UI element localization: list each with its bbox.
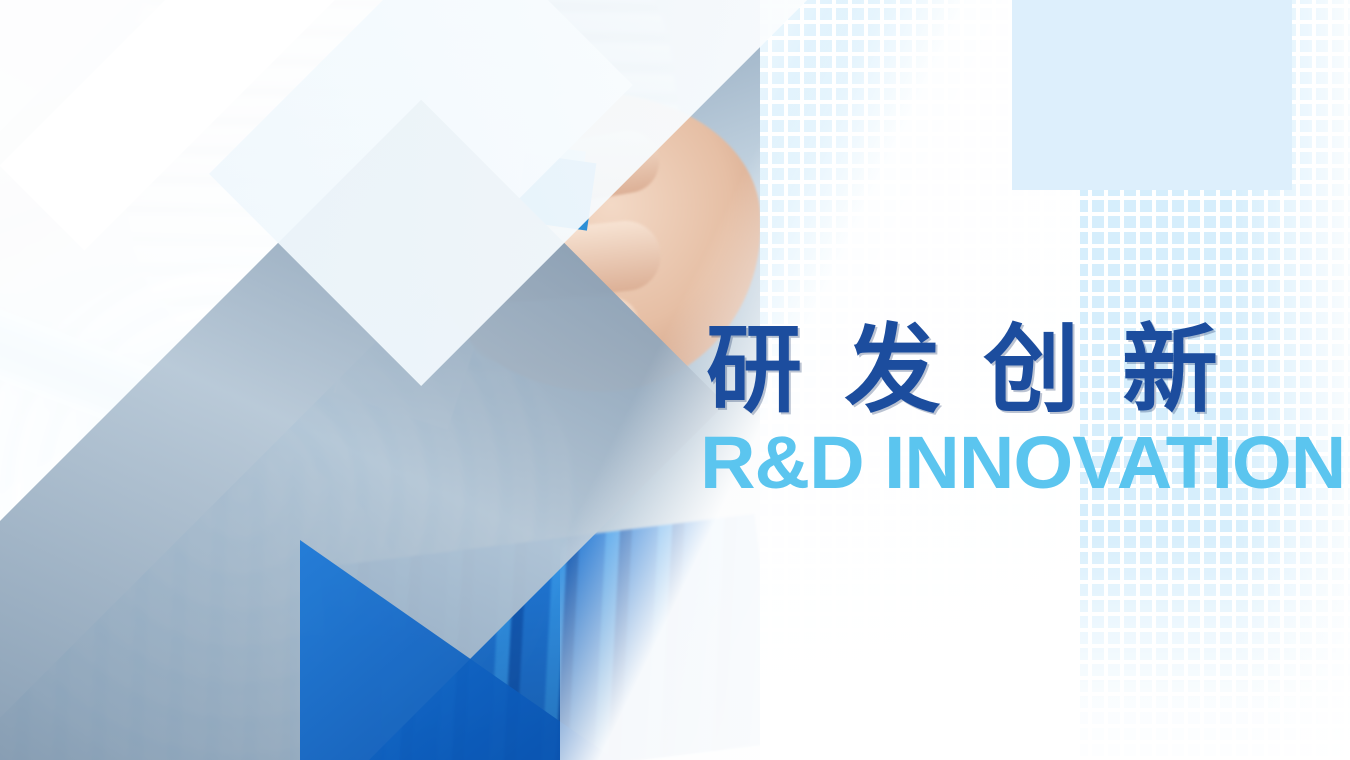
- headline-block: 研 发 创 新 R&D INNOVATION: [706, 322, 1306, 500]
- rd-innovation-banner: 研 发 创 新 R&D INNOVATION: [0, 0, 1350, 760]
- page-title-en: R&D INNOVATION: [700, 426, 1330, 500]
- page-title-cn: 研 发 创 新: [706, 322, 1306, 420]
- hengrui-logo-panel[interactable]: [1012, 0, 1292, 190]
